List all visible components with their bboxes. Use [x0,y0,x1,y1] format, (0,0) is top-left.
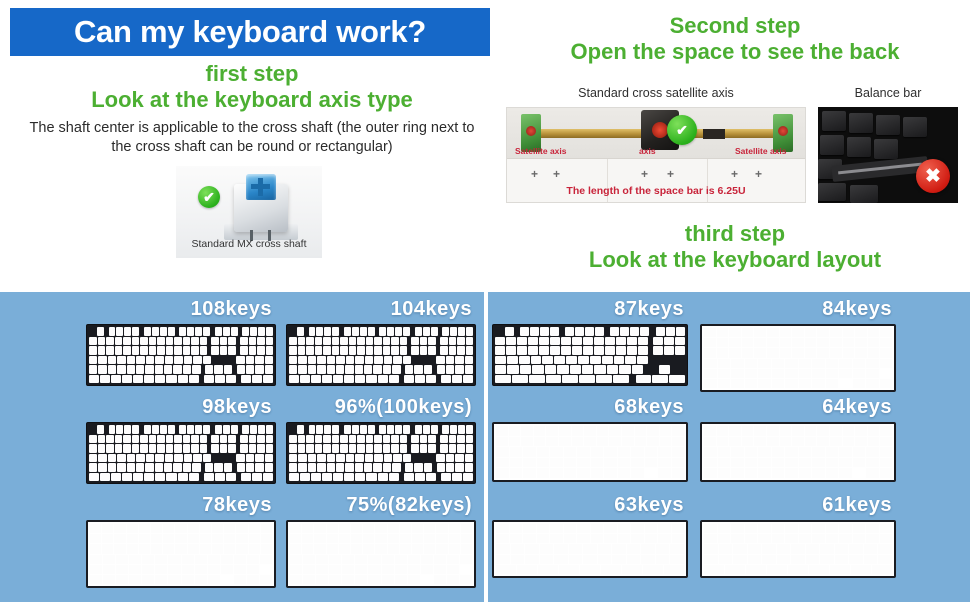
keyboard-key-row [289,365,473,374]
keycap [550,468,563,478]
keycap [420,337,428,346]
keycap [127,356,135,365]
keycap [767,565,787,574]
keycap [300,473,310,482]
keycap [117,356,125,365]
keycap [791,544,805,553]
keycap [144,327,151,336]
keycap [645,458,658,468]
keycap [403,327,410,336]
keycap [826,447,839,457]
keycap [289,463,297,472]
keycap [236,356,244,365]
keycap [496,426,508,436]
keycap [127,454,135,463]
keycap [89,375,99,384]
keyboard-gap [140,327,143,336]
keycap [851,565,871,574]
keyboard-layout-68keys[interactable] [492,422,688,482]
keyboard-gap [200,375,203,384]
keycap [208,565,220,574]
keycap [583,346,593,355]
keycap [839,468,852,478]
keycap [140,435,148,444]
layout-label-84keys: 84keys [822,298,892,321]
keycap [561,346,571,355]
keycap [155,454,163,463]
keycap [123,346,131,355]
keycap [236,544,247,553]
keycap [461,534,472,543]
keycap [98,337,106,346]
keycap [731,369,744,378]
step-two-kicker: Second step [500,14,970,39]
keycap [240,346,248,355]
keycap [630,327,639,336]
keycap [604,468,617,478]
keycap [400,346,408,355]
keycap [466,327,473,336]
keyboard-layout-63keys[interactable] [492,520,688,578]
switch-caption: Standard MX cross shaft [176,238,322,250]
keycap [166,337,174,346]
keyboard-layout-108keys[interactable] [86,324,276,386]
keycap [339,524,350,533]
keycap [853,447,866,457]
keycap [404,473,414,482]
keycap [255,463,263,472]
keycap [391,337,399,346]
keycap [393,356,401,365]
keycap [812,468,825,478]
keyboard-layout-61keys[interactable] [700,520,896,578]
keyboard-layout-104keys[interactable] [286,324,476,386]
keycap [463,473,473,482]
keycap [577,447,590,457]
keyboard-gap [176,425,179,434]
keycap [754,328,766,337]
keycap [758,524,771,533]
keycap [461,544,472,553]
keycap [139,534,150,543]
keycap [554,356,565,365]
keycap [564,447,577,457]
keycap [495,327,504,336]
keycap [140,444,148,453]
keycap [183,463,191,472]
keycap [395,327,402,336]
keycap [124,425,131,434]
keycap [449,534,460,543]
keycap [719,544,733,553]
keycap [166,473,176,482]
keycap [249,337,257,346]
keycap [195,555,207,564]
keycap [466,435,474,444]
keycap [89,327,96,336]
keycap [247,575,259,584]
keycap [228,337,236,346]
keycap [211,435,219,444]
keycap [340,435,348,444]
keycap [411,346,419,355]
keycap [224,544,235,553]
keycap [704,555,718,564]
keycap [231,425,238,434]
keycap [363,524,374,533]
keycap [466,425,473,434]
keycap [585,327,594,336]
keycap [223,425,230,434]
keycap [111,375,121,384]
keycap [289,435,297,444]
keyboard-key-row [704,426,892,436]
keycap [523,447,536,457]
keycap [853,359,866,368]
keycap [570,365,581,374]
keycap [517,346,527,355]
keycap [155,365,163,374]
keycap [263,375,273,384]
keycap [645,534,658,543]
keycap [142,565,154,574]
keycap [249,346,257,355]
keycap [205,365,213,374]
keycap [382,565,394,574]
keyboard-key-row [289,425,473,434]
keycap [561,337,571,346]
keycap [144,375,154,384]
keyboard-key-row [90,534,272,543]
keyboard-key-row [90,555,272,564]
keycap [792,437,804,447]
keyboard-gap [644,365,658,374]
keyboard-key-row [496,544,684,553]
keycap [590,356,601,365]
keycap [729,348,741,357]
keycap [531,356,542,365]
keycap [767,348,779,357]
layout-label-61keys: 61keys [822,494,892,517]
keyboard-layout-84keys[interactable] [700,324,896,392]
space-bar-ruler: + + + + + + The length of the space bar … [507,158,805,202]
keycap [596,375,612,384]
keycap [457,435,465,444]
keycap [387,327,394,336]
keycap [866,534,879,543]
keycap [200,544,211,553]
keycap [423,425,430,434]
keycap [329,575,341,584]
keycap [826,468,839,478]
keycap [306,444,314,453]
step-three-kicker: third step [500,222,970,247]
keycap [820,555,834,564]
keycap [89,365,97,374]
keycap [174,356,182,365]
keyboard-gap [880,369,893,378]
keycap [772,468,785,478]
keycap [780,328,792,337]
keycap [373,365,381,374]
keycap [575,327,584,336]
keycap [263,473,273,482]
keycap [423,327,430,336]
keycap [754,426,766,436]
keycap [849,544,863,553]
keyboard-gap [439,327,441,336]
keycap [748,555,762,564]
keycap [835,555,849,564]
keycap [839,458,852,468]
keycap [298,444,306,453]
keycap [155,473,165,482]
keycap [610,327,619,336]
keycap [403,425,410,434]
keycap [173,463,181,472]
keyboard-key-row [290,534,472,543]
keycap [625,356,636,365]
keycap [426,473,436,482]
keycap [420,346,428,355]
keycap [528,346,538,355]
keycap [496,458,509,468]
keycap [182,555,194,564]
keycap [100,473,110,482]
keycap [880,426,892,436]
keyboard-layout-96100keys[interactable] [286,422,476,484]
keycap [579,375,595,384]
keycap [237,365,245,374]
keycap [664,337,674,346]
keyboard-gap [340,327,343,336]
keycap [704,458,717,468]
keycap [830,426,842,436]
keycap [767,426,779,436]
keycap [260,575,272,584]
keycap [374,337,382,346]
keycap [97,425,104,434]
keycap [208,555,220,564]
keycap [748,544,762,553]
banner-title: Can my keyboard work? [74,14,426,50]
keycap [266,327,273,336]
keyboard-gap [305,425,308,434]
keycap [366,337,374,346]
keycap [817,426,829,436]
keycap [90,534,101,543]
keycap [455,365,463,374]
keycap [780,426,792,436]
keycap [437,463,445,472]
keycap [408,575,420,584]
keycap [652,375,668,384]
keycap [242,327,249,336]
keycap [805,328,817,337]
keycap [327,524,338,533]
keycap [843,338,855,347]
keycap [132,435,140,444]
keycap [132,346,140,355]
balance-bar-photo [818,107,958,203]
keyboard-key-row [704,379,892,388]
keycap [843,328,855,337]
keycap [127,534,138,543]
keycap [537,458,550,468]
keyboard-layout-87keys[interactable] [492,324,688,386]
keyboard-gap [649,356,685,365]
keycap [609,426,621,436]
keycap [466,444,474,453]
keyboard-gap [433,454,436,463]
keyboard-key-row [704,524,892,533]
keycap [520,365,531,374]
keycap [215,425,222,434]
keycap [420,444,428,453]
keycap [257,346,265,355]
keycap [363,534,374,543]
keycap [212,544,223,553]
keycap [400,444,408,453]
keycap [366,346,374,355]
keycap [785,379,798,388]
keycap [660,426,672,436]
keycap [247,565,259,574]
keycap [344,473,354,482]
keycap [261,534,272,543]
keycap [767,437,779,447]
keycap [880,379,893,388]
keycap [375,534,386,543]
keycap [168,327,175,336]
keycap [160,327,167,336]
keycap [653,337,663,346]
keycap [155,555,167,564]
keyboard-layout-78keys[interactable] [86,520,276,588]
keycap [145,463,153,472]
keycap [426,375,436,384]
keyboard-key-row [290,575,472,584]
keyboard-gap [208,337,210,346]
keycap [365,356,373,365]
keycap [383,346,391,355]
keycap [446,454,454,463]
keycap [767,328,779,337]
keycap [791,555,805,564]
layout-label-108keys: 108keys [191,298,272,321]
keycap [242,425,249,434]
keycap [129,565,141,574]
stabilizer-wire-dark [703,129,725,139]
keycap [237,463,245,472]
keyboard-gap [649,337,652,346]
satellite-axis-caption: Standard cross satellite axis [506,86,806,100]
keycap [405,365,413,374]
keyboard-layout-panel: 108keys104keys87keys84keys98keys96%(100k… [0,292,970,602]
keyboard-gap [233,463,236,472]
satellite-axis-photo: Satellite axis axis Satellite axis + + +… [506,107,806,203]
keycap [566,356,577,365]
keycap [336,463,344,472]
keyboard-gap [239,327,241,336]
keycap [826,369,839,378]
keycap [653,346,663,355]
keycap [447,555,459,564]
keycap [298,356,306,365]
keycap [266,435,274,444]
keycap [436,524,447,533]
keycap [658,534,671,543]
keycap [496,534,509,543]
keycap [203,356,211,365]
keycap [637,356,648,365]
keycap [436,534,447,543]
keycap [505,327,514,336]
keycap [188,524,199,533]
keycap [382,575,394,584]
keyboard-gap [212,454,231,463]
keycap [826,524,839,533]
keycap [136,356,144,365]
keycap [466,346,474,355]
keycap [496,565,516,574]
step-three-block: third step Look at the keyboard layout [500,222,970,273]
keycap [670,544,684,553]
keyboard-gap [605,327,609,336]
keyboard-key-row [89,375,273,384]
keycap [718,369,731,378]
keycap [717,328,729,337]
keycap [672,447,685,457]
keycap [550,458,563,468]
keycap [408,555,420,564]
keycap [368,565,380,574]
title-banner: Can my keyboard work? [10,8,490,56]
keyboard-layout-98keys[interactable] [86,422,276,484]
keyboard-layout-64keys[interactable] [700,422,896,482]
keycap [249,534,260,543]
keycap [327,463,335,472]
keyboard-key-row [289,346,473,355]
keycap [175,524,186,533]
keycap [395,565,407,574]
keycap [520,327,529,336]
keycap [183,365,191,374]
keycap [136,454,144,463]
keycap [537,534,550,543]
keycap [123,444,131,453]
keyboard-layout-7582keys[interactable] [286,520,476,588]
keyboard-gap [421,575,433,584]
keycap [228,346,236,355]
keycap [636,375,652,384]
keycap [717,426,729,436]
keycap [583,337,593,346]
keycap [309,425,316,434]
keycap [659,365,670,374]
keycap [424,463,432,472]
keycap [183,337,191,346]
keyboard-gap [376,327,379,336]
keycap [164,365,172,374]
keyboard-gap [412,454,431,463]
step-one-kicker: first step [14,62,490,87]
keycap [745,447,758,457]
keycap [298,337,306,346]
keycap [669,375,685,384]
keyboard-key-row [496,524,684,533]
keycap [192,365,200,374]
